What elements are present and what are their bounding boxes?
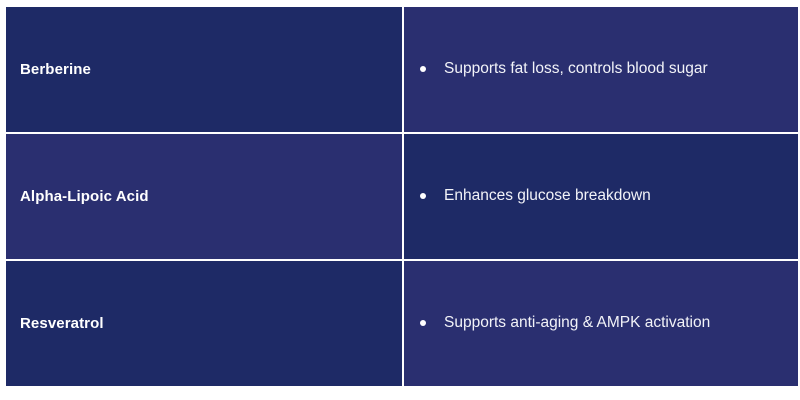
table-row: Berberine Supports fat loss, controls bl… [6,7,798,132]
benefit-text: Enhances glucose breakdown [444,186,784,207]
table-cell-name: Resveratrol [6,261,402,386]
table-cell-name: Alpha-Lipoic Acid [6,134,402,259]
benefit-list-item: Supports anti-aging & AMPK activation [404,313,798,334]
benefit-text: Supports anti-aging & AMPK activation [444,313,784,334]
disc-bullet-icon [420,320,426,326]
supplement-name-label: Alpha-Lipoic Acid [6,187,402,207]
table-body: Berberine Supports fat loss, controls bl… [6,7,798,386]
benefit-list-item: Supports fat loss, controls blood sugar [404,59,798,80]
table-cell-benefit: Supports fat loss, controls blood sugar [404,7,798,132]
table-cell-benefit: Enhances glucose breakdown [404,134,798,259]
benefit-list-item: Enhances glucose breakdown [404,186,798,207]
supplement-benefits-table-container: Berberine Supports fat loss, controls bl… [4,5,796,388]
benefit-text: Supports fat loss, controls blood sugar [444,59,784,80]
supplement-name-label: Berberine [6,60,402,80]
table-cell-benefit: Supports anti-aging & AMPK activation [404,261,798,386]
table-cell-name: Berberine [6,7,402,132]
table-row: Alpha-Lipoic Acid Enhances glucose break… [6,134,798,259]
supplement-name-label: Resveratrol [6,314,402,334]
disc-bullet-icon [420,193,426,199]
table-row: Resveratrol Supports anti-aging & AMPK a… [6,261,798,386]
disc-bullet-icon [420,66,426,72]
supplement-benefits-table: Berberine Supports fat loss, controls bl… [4,5,800,388]
